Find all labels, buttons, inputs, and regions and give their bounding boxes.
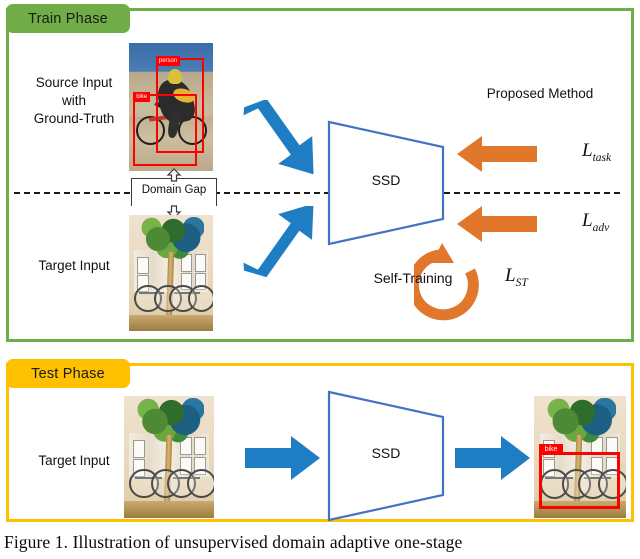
figure-caption: Figure 1. Illustration of unsupervised d… [4,532,638,553]
adv-loss-arrow [456,203,538,245]
st-loss-label: LST [505,265,528,289]
painting-ground [124,501,214,518]
domain-gap-label: Domain Gap [131,184,217,196]
task-loss-arrow [456,133,538,175]
domain-gap-up-arrow [165,168,183,182]
domain-gap-divider [14,192,620,194]
target-to-model-arrow [238,206,324,278]
test-ssd-label: SSD [326,445,446,461]
detection-label-person: person [156,56,180,66]
detection-label-bike: bike [133,92,150,102]
model-to-output-arrow [455,434,531,482]
train-ssd-block: SSD [326,119,446,247]
self-training-label: Self-Training [358,269,468,287]
test-target-input-image [124,396,214,518]
test-ssd-block: SSD [326,389,446,523]
test-phase-tab-label: Test Phase [31,366,105,382]
source-input-label: Source Input with Ground-Truth [14,74,134,127]
detection-box-bike [539,452,620,509]
detection-box-bike [133,94,197,166]
source-input-image: person bike [129,43,213,171]
test-target-input-label: Target Input [14,452,134,470]
painting-wheel-4 [187,469,214,498]
train-ssd-label: SSD [326,172,446,188]
test-phase-tab: Test Phase [6,359,130,388]
adv-loss-label: Ladv [582,210,609,234]
source-to-model-arrow [238,100,324,176]
train-phase-tab-label: Train Phase [28,11,108,27]
train-target-input-label: Target Input [14,257,134,275]
train-target-input-image [129,215,213,331]
painting-wheel-4 [188,285,213,313]
train-phase-tab: Train Phase [6,4,130,33]
test-input-to-model-arrow [245,434,321,482]
painting-ground [129,315,213,331]
detection-label-bike: bike [539,444,564,455]
proposed-method-label: Proposed Method [460,85,620,103]
test-output-image: bike [534,396,626,518]
task-loss-label: Ltask [582,140,611,164]
